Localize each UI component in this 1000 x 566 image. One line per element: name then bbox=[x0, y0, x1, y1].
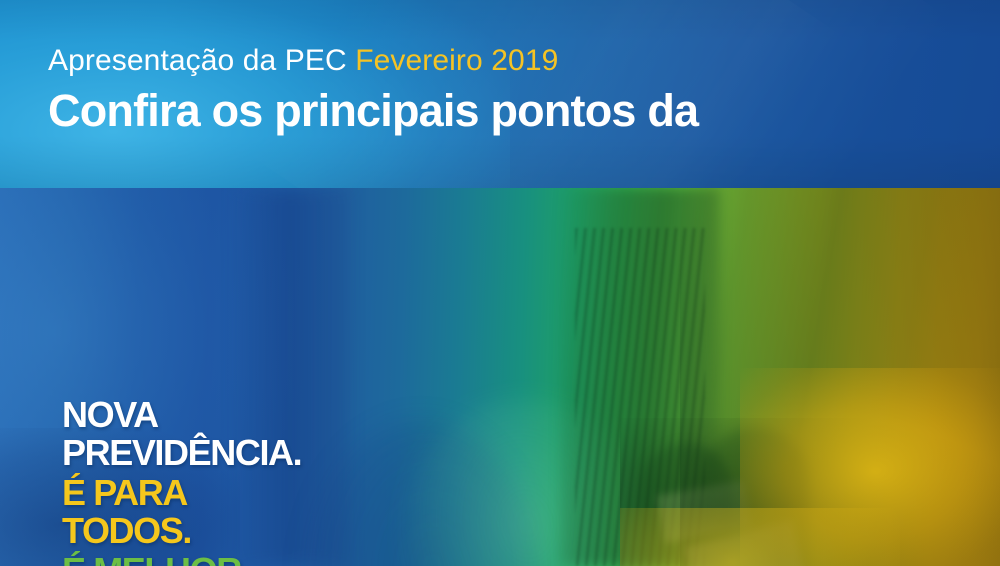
header-banner: Apresentação da PEC Fevereiro 2019 Confi… bbox=[0, 0, 1000, 188]
photo-yellow-highlight-lower bbox=[620, 508, 900, 566]
poster-line-e-para: É PARA bbox=[62, 474, 301, 512]
campaign-poster-image: NOVA PREVIDÊNCIA. É PARA TODOS. É MELHOR… bbox=[0, 188, 1000, 566]
header-eyebrow-plain: Apresentação da PEC bbox=[48, 44, 347, 77]
header-text-block: Apresentação da PEC Fevereiro 2019 Confi… bbox=[48, 42, 698, 138]
poster-line-nova: NOVA bbox=[62, 396, 301, 434]
poster-line-todos: TODOS. bbox=[62, 512, 301, 550]
poster-slogan-block: NOVA PREVIDÊNCIA. É PARA TODOS. É MELHOR… bbox=[62, 396, 301, 566]
header-headline: Confira os principais pontos da bbox=[48, 84, 698, 138]
header-eyebrow: Apresentação da PEC Fevereiro 2019 bbox=[48, 42, 698, 80]
poster-line-previdencia: PREVIDÊNCIA. bbox=[62, 434, 301, 472]
header-eyebrow-date: Fevereiro 2019 bbox=[355, 44, 558, 77]
poster-line-e-melhor: É MELHOR bbox=[62, 552, 301, 566]
campaign-banner-page: Apresentação da PEC Fevereiro 2019 Confi… bbox=[0, 0, 1000, 566]
